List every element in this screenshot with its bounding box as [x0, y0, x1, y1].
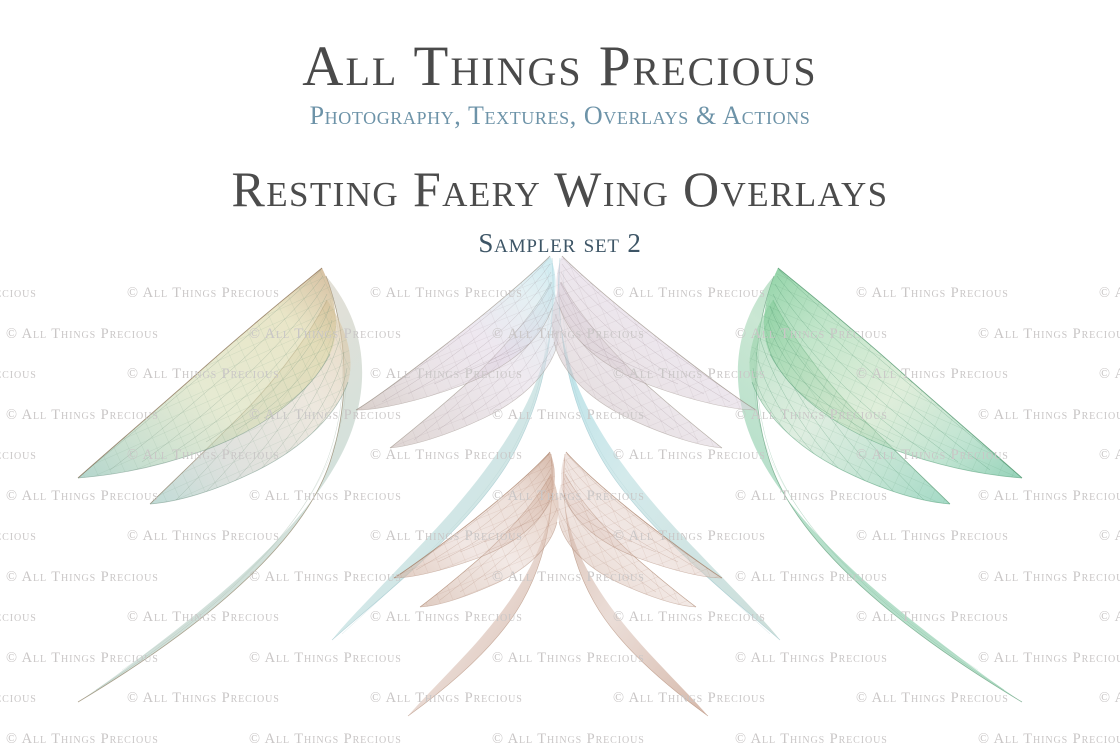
poster-canvas: © All Things Precious © All Things Preci…: [0, 0, 1120, 745]
specimen-left-wing-gold-green: [68, 258, 362, 702]
faery-wing-artwork: © All Things Precious © All Things Preci…: [0, 0, 1120, 745]
specimen-center-top-wing-pair: [332, 248, 780, 640]
specimen-center-bottom-wing-pair: [386, 444, 730, 716]
specimen-right-wing-green: [738, 258, 1032, 702]
